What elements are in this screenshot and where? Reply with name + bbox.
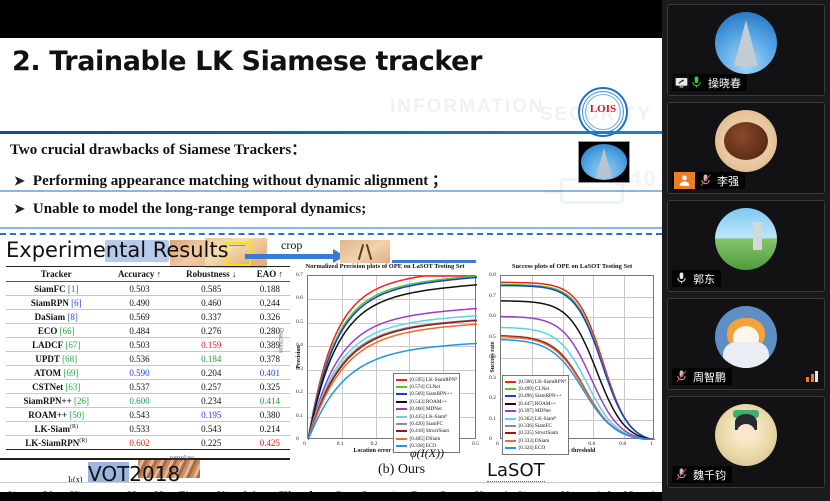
y-tick-label: 0.1 (489, 416, 496, 422)
y-tick-label: 0.8 (489, 272, 496, 278)
legend-label: [0.418] StructSiam (410, 428, 449, 434)
legend-item: [0.405] DSiam (396, 435, 457, 442)
table-header-row: TrackerAccuracy ↑Robustness ↓EAO ↑ (6, 267, 290, 282)
accuracy-cell: 0.503 (106, 338, 172, 352)
eao-cell: 0.378 (250, 352, 290, 366)
table-row: ATOM [69]0.5900.2040.401 (6, 366, 290, 380)
slide-lead-text: Two crucial drawbacks of Siamese Tracker… (10, 138, 306, 159)
tracker-name-cell: LADCF [67] (6, 338, 106, 352)
x-tick-label: 0.2 (371, 441, 378, 447)
table-body: SiamFC [1]0.5030.5850.188SiamRPN [6]0.49… (6, 282, 290, 450)
eao-cell: 0.188 (250, 282, 290, 296)
lasot-caption: LaSOT (487, 460, 545, 482)
legend-label: [0.569] SiamRPN++ (410, 391, 453, 397)
avatar (715, 208, 777, 270)
participant-tile-0[interactable]: 操晓春 (667, 4, 825, 96)
accuracy-cell: 0.537 (106, 380, 172, 394)
eao-cell: 0.401 (250, 366, 290, 380)
dashed-separator (0, 233, 662, 235)
legend-label: [0.420] SiamFC (410, 421, 443, 427)
eao-cell: 0.325 (250, 380, 290, 394)
legend-item: [0.506] LK-SiamRPNᴿ (505, 378, 566, 385)
legend-label: [0.405] DSiam (410, 436, 441, 442)
mic-icon[interactable] (674, 271, 689, 286)
legend-item: [0.324] ECO (505, 445, 566, 452)
signal-strength-icon (806, 371, 818, 382)
accuracy-cell: 0.536 (106, 352, 172, 366)
divider-3 (0, 227, 662, 229)
robustness-cell: 0.460 (173, 296, 250, 310)
legend-label: [0.574] CLNet (410, 384, 441, 390)
legend-swatch (505, 432, 516, 434)
table-row: LK-SiamRPN(R)0.6020.2250.425 (6, 436, 290, 450)
target-shape (358, 244, 372, 262)
legend-item: [0.595] LK-SiamRPNᴿ (396, 376, 457, 383)
tracker-name-cell: SiamFC [1] (6, 282, 106, 296)
legend-label: [0.496] SiamRPN++ (519, 393, 562, 399)
legend-item: [0.574] CLNet (396, 383, 457, 390)
accuracy-cell: 0.543 (106, 408, 172, 422)
template-label: template (170, 454, 194, 462)
phi-expression: φ(I(X)) (410, 446, 444, 461)
presentation-slide: INFORMATION SECURITY 2401 2. Trainable L… (0, 38, 662, 492)
success-plot-chart: Success plots of OPE on LaSOT Testing Se… (486, 263, 658, 463)
legend-label: [0.595] LK-SiamRPNᴿ (410, 377, 458, 383)
lois-logo-text: LOIS (578, 103, 628, 115)
eao-cell: 0.425 (250, 436, 290, 450)
eao-cell: 0.326 (250, 310, 290, 324)
mic-muted-icon[interactable] (674, 369, 689, 384)
participant-name-bar: 操晓春 (672, 74, 747, 91)
legend-swatch (396, 379, 407, 381)
robustness-cell: 0.585 (173, 282, 250, 296)
robustness-cell: 0.184 (173, 352, 250, 366)
y-tick-label: 0.2 (489, 395, 496, 401)
mic-icon[interactable] (689, 75, 704, 90)
legend-swatch (505, 403, 516, 405)
table-header-cell: Robustness ↓ (173, 267, 250, 282)
robustness-cell: 0.204 (173, 366, 250, 380)
legend-swatch (396, 393, 407, 395)
participant-name: 魏千钧 (693, 467, 726, 483)
legend-item: [0.569] SiamRPN++ (396, 391, 457, 398)
avatar (715, 110, 777, 172)
participant-name: 操晓春 (708, 75, 741, 91)
participant-tile-3[interactable]: 周智鹏 (667, 298, 825, 390)
results-table: TrackerAccuracy ↑Robustness ↓EAO ↑ SiamF… (6, 266, 290, 450)
sidebar-precision-label: Precision (277, 328, 283, 353)
tracker-name-cell: DaSiam [8] (6, 310, 106, 324)
legend-swatch (396, 408, 407, 410)
tracker-name-cell: ATOM [69] (6, 366, 106, 380)
y-tick-label: 0 (296, 436, 299, 442)
chart-title: Normalized Precision plots of OPE on LaS… (290, 263, 480, 270)
y-axis-label: Success rate (490, 341, 496, 372)
eao-cell: 0.380 (250, 408, 290, 422)
tracker-name-cell: CSTNet [63] (6, 380, 106, 394)
legend-label: [0.324] ECO (519, 445, 546, 451)
presenter-video-thumbnail (578, 141, 630, 183)
table-row: ECO [66]0.4840.2760.280 (6, 324, 290, 338)
citation-bar: Siyuan Yao, Xiaoguang Han, Hua Zhang, Xi… (0, 482, 662, 492)
avatar (715, 306, 777, 368)
legend-item: [0.335] StructSiam (505, 430, 566, 437)
legend-swatch (505, 410, 516, 412)
accuracy-cell: 0.590 (106, 366, 172, 380)
x-tick-label: 0 (496, 441, 499, 447)
crop-arrow-icon (245, 254, 335, 259)
table-row: SiamRPN++ [26]0.6000.2340.414 (6, 394, 290, 408)
avatar (715, 12, 777, 74)
participant-name-bar: 魏千钧 (672, 466, 732, 483)
table-row: ROAM++ [50]0.5430.1950.380 (6, 408, 290, 422)
table-row: UPDT [68]0.5360.1840.378 (6, 352, 290, 366)
participant-name-bar: 郭东 (672, 270, 721, 287)
shared-screen-stage: INFORMATION SECURITY 2401 2. Trainable L… (0, 0, 662, 501)
legend-item: [0.418] StructSiam (396, 428, 457, 435)
legend-label: [0.543] ROAM++ (410, 399, 448, 405)
robustness-cell: 0.257 (173, 380, 250, 394)
eao-cell: 0.389 (250, 338, 290, 352)
screen-share-icon[interactable] (674, 75, 689, 90)
legend-swatch (505, 381, 516, 383)
table-row: SiamFC [1]0.5030.5850.188 (6, 282, 290, 296)
legend-swatch (396, 423, 407, 425)
avatar (715, 404, 777, 466)
bullet-1-text: Performing appearance matching without d… (33, 173, 447, 189)
legend-item: [0.543] ROAM++ (396, 398, 457, 405)
robustness-cell: 0.159 (173, 338, 250, 352)
legend-item: [0.362] LK-Siamᴿ (505, 415, 566, 422)
accuracy-cell: 0.602 (106, 436, 172, 450)
legend-item: [0.460] MDNet (396, 406, 457, 413)
table-header-cell: Accuracy ↑ (106, 267, 172, 282)
robustness-cell: 0.276 (173, 324, 250, 338)
eao-cell: 0.244 (250, 296, 290, 310)
legend-label: [0.397] MDNet (519, 408, 551, 414)
legend-label: [0.335] StructSiam (519, 430, 558, 436)
participant-tile-4[interactable]: 魏千钧 (667, 396, 825, 488)
chart-title: Success plots of OPE on LaSOT Testing Se… (486, 263, 658, 270)
legend-swatch (505, 425, 516, 427)
tracker-name-cell: LK-Siam(R) (6, 422, 106, 436)
robustness-cell: 0.225 (173, 436, 250, 450)
tracker-name-cell: SiamRPN++ [26] (6, 394, 106, 408)
legend-item: [0.435] LK-Siamᴿ (396, 413, 457, 420)
legend-item: [0.499] CLNet (505, 385, 566, 392)
robustness-cell: 0.234 (173, 394, 250, 408)
legend-label: [0.362] LK-Siamᴿ (519, 416, 557, 422)
watermark-information: INFORMATION (390, 96, 545, 118)
arrow-bullet-icon: ➤ (14, 201, 25, 216)
legend-item: [0.420] SiamFC (396, 420, 457, 427)
bullet-item-1: ➤Performing appearance matching without … (14, 169, 447, 190)
mic-muted-icon[interactable] (674, 467, 689, 482)
y-tick-label: 0.1 (296, 413, 303, 419)
chart-legend: [0.506] LK-SiamRPNᴿ[0.499] CLNet[0.496] … (502, 375, 569, 455)
legend-item: [0.447] ROAM++ (505, 400, 566, 407)
accuracy-cell: 0.484 (106, 324, 172, 338)
legend-swatch (396, 416, 407, 418)
tracker-name-cell: UPDT [68] (6, 352, 106, 366)
chart-legend: [0.595] LK-SiamRPNᴿ[0.574] CLNet[0.569] … (393, 373, 460, 453)
participant-name-bar: 周智鹏 (672, 368, 732, 385)
tracker-name-cell: ROAM++ [50] (6, 408, 106, 422)
x-tick-label: 0.5 (472, 441, 479, 447)
participant-tile-1[interactable]: 李强 (667, 102, 825, 194)
table-header-cell: Tracker (6, 267, 106, 282)
y-tick-label: 0.3 (489, 375, 496, 381)
x-tick-label: 0 (303, 441, 306, 447)
legend-label: [0.499] CLNet (519, 386, 550, 392)
legend-label: [0.336] SiamFC (519, 423, 552, 429)
slide-title: 2. Trainable LK Siamese tracker (12, 46, 482, 77)
legend-swatch (505, 440, 516, 442)
y-tick-label: 0.7 (296, 272, 303, 278)
y-tick-label: 0 (489, 436, 492, 442)
tracker-name-cell: SiamRPN [6] (6, 296, 106, 310)
table-row: CSTNet [63]0.5370.2570.325 (6, 380, 290, 394)
participant-name: 周智鹏 (693, 369, 726, 385)
participant-tile-2[interactable]: 郭东 (667, 200, 825, 292)
lois-logo-icon: LOIS (578, 87, 628, 137)
legend-item: [0.333] DSiam (505, 437, 566, 444)
bullet-item-2: ➤Unable to model the long-range temporal… (14, 201, 366, 218)
legend-item: [0.397] MDNet (505, 408, 566, 415)
table-header-cell: EAO ↑ (250, 267, 290, 282)
legend-label: [0.506] LK-SiamRPNᴿ (519, 379, 567, 385)
y-tick-label: 0.6 (489, 313, 496, 319)
table-row: LK-Siam(R)0.5330.5430.214 (6, 422, 290, 436)
tracker-name-cell: ECO [66] (6, 324, 106, 338)
y-tick-label: 0.2 (296, 389, 303, 395)
legend-swatch (396, 386, 407, 388)
y-tick-label: 0.5 (489, 334, 496, 340)
x-tick-label: 0.6 (588, 441, 595, 447)
y-tick-label: 0.5 (296, 319, 303, 325)
x-tick-label: 0.8 (619, 441, 626, 447)
legend-swatch (505, 395, 516, 397)
robustness-cell: 0.543 (173, 422, 250, 436)
legend-swatch (396, 430, 407, 432)
ours-caption: (b) Ours (378, 462, 425, 478)
zoom-meeting-window: INFORMATION SECURITY 2401 2. Trainable L… (0, 0, 830, 501)
y-axis-label: Precision (296, 345, 302, 369)
robustness-cell: 0.195 (173, 408, 250, 422)
legend-swatch (505, 418, 516, 420)
eao-cell: 0.280 (250, 324, 290, 338)
legend-swatch (505, 388, 516, 390)
legend-swatch (396, 445, 407, 447)
accuracy-cell: 0.600 (106, 394, 172, 408)
robustness-cell: 0.337 (173, 310, 250, 324)
legend-label: [0.447] ROAM++ (519, 401, 557, 407)
legend-label: [0.460] MDNet (410, 406, 442, 412)
accuracy-cell: 0.503 (106, 282, 172, 296)
crop-label: crop (281, 238, 302, 253)
x-tick-label: 0.1 (337, 441, 344, 447)
legend-label: [0.435] LK-Siamᴿ (410, 414, 448, 420)
participant-name: 郭东 (693, 271, 715, 287)
accuracy-cell: 0.569 (106, 310, 172, 324)
legend-swatch (505, 447, 516, 449)
table-row: DaSiam [8]0.5690.3370.326 (6, 310, 290, 324)
eao-cell: 0.214 (250, 422, 290, 436)
participant-name: 李强 (717, 173, 739, 189)
normalized-precision-chart: Normalized Precision plots of OPE on LaS… (290, 263, 480, 463)
accuracy-cell: 0.533 (106, 422, 172, 436)
divider-2 (0, 190, 662, 192)
bullet-2-text: Unable to model the long-range temporal … (33, 201, 366, 217)
legend-swatch (396, 401, 407, 403)
video-off-person-icon[interactable] (674, 172, 695, 189)
title-divider (0, 131, 662, 134)
legend-item: [0.496] SiamRPN++ (505, 393, 566, 400)
tracker-name-cell: LK-SiamRPN(R) (6, 436, 106, 450)
y-tick-label: 0.6 (296, 295, 303, 301)
eao-cell: 0.414 (250, 394, 290, 408)
table-row: LADCF [67]0.5030.1590.389 (6, 338, 290, 352)
legend-label: [0.333] DSiam (519, 438, 550, 444)
x-tick-label: 1 (650, 441, 653, 447)
citation-bold-author: Xiaochun Cao (279, 489, 355, 492)
arrow-bullet-icon: ➤ (14, 173, 25, 188)
participants-panel: 操晓春李强郭东周智鹏魏千钧 (662, 0, 830, 501)
citation-authors: Siyuan Yao, Xiaoguang Han, Hua Zhang, Xi… (6, 489, 279, 492)
legend-item: [0.336] SiamFC (505, 422, 566, 429)
table-row: SiamRPN [6]0.4900.4600.244 (6, 296, 290, 310)
section-heading-experimental-results: Experimental Results (6, 238, 229, 262)
y-tick-label: 0.7 (489, 293, 496, 299)
accuracy-cell: 0.490 (106, 296, 172, 310)
legend-swatch (396, 438, 407, 440)
participant-name-bar: 李强 (672, 172, 745, 189)
mic-muted-icon[interactable] (698, 173, 713, 188)
